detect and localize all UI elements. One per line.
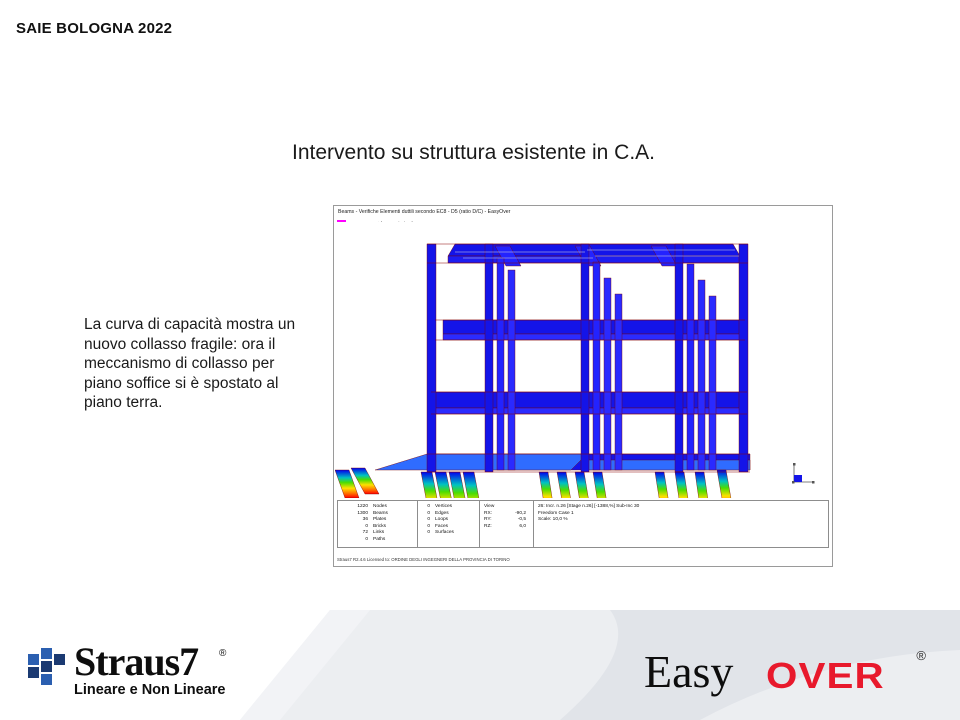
result-scale: Scale: 10,0 % bbox=[538, 517, 824, 524]
stats-count-value: 72 bbox=[342, 530, 368, 537]
fea-screenshot-panel: Beams - Verifiche Elementi duttili secon… bbox=[333, 205, 833, 567]
stats-count-value: 0 bbox=[342, 537, 368, 544]
model-viewport[interactable] bbox=[335, 222, 831, 498]
stats-view-value: 6,0 bbox=[500, 524, 526, 531]
stats-geometry-counts: 0Vertices0Edges0Loops0Faces0Surfaces bbox=[418, 501, 480, 547]
easyover-logo: Easy OVER ® bbox=[644, 646, 924, 706]
slide-header-title: SAIE BOLOGNA 2022 bbox=[16, 20, 172, 37]
stats-count-label: Links bbox=[373, 530, 384, 537]
stats-row: 0Loops bbox=[422, 517, 475, 524]
fea-result-title: Beams - Verifiche Elementi duttili secon… bbox=[338, 209, 510, 215]
stats-entity-value: 0 bbox=[422, 517, 430, 524]
stats-entity-value: 0 bbox=[422, 530, 430, 537]
stats-entity-label: Vertices bbox=[435, 504, 452, 511]
stats-count-label: Nodes bbox=[373, 504, 387, 511]
result-increment: 26: Incr. n.26 [Stage n.26] [-1388,%] Su… bbox=[538, 504, 824, 511]
stats-row: 72Links bbox=[342, 530, 413, 537]
stats-entity-value: 0 bbox=[422, 504, 430, 511]
straus7-grid-icon bbox=[28, 648, 68, 686]
result-freedom-case: Freedom Case 1 bbox=[538, 511, 824, 518]
straus7-logo: Straus7 ® Lineare e Non Lineare bbox=[28, 642, 228, 704]
stats-view-row: RY:-0,5 bbox=[484, 517, 529, 524]
body-paragraph: La curva di capacità mostra un nuovo col… bbox=[84, 315, 299, 413]
stats-view-title: View bbox=[484, 504, 529, 511]
page-title: Intervento su struttura esistente in C.A… bbox=[292, 141, 655, 165]
license-footer: Straus7 R2.4.6 Licensed to: ORDINE DEGLI… bbox=[337, 557, 510, 562]
stats-count-label: Paths bbox=[373, 537, 385, 544]
straus7-registered-mark: ® bbox=[219, 648, 226, 659]
straus7-wordmark: Straus7 bbox=[74, 640, 198, 684]
stats-count-label: Plates bbox=[373, 517, 386, 524]
stats-row: 36Plates bbox=[342, 517, 413, 524]
axis-triad-icon bbox=[788, 460, 818, 488]
straus7-tagline: Lineare e Non Lineare bbox=[74, 682, 226, 698]
stats-count-value: 36 bbox=[342, 517, 368, 524]
stats-result-case: 26: Incr. n.26 [Stage n.26] [-1388,%] Su… bbox=[534, 501, 828, 547]
stats-count-value: 1220 bbox=[342, 504, 368, 511]
stats-view-row: RZ:6,0 bbox=[484, 524, 529, 531]
stats-row: 0Vertices bbox=[422, 504, 475, 511]
stats-view-angles: ViewRX:-90,2RY:-0,5RZ:6,0 bbox=[480, 501, 534, 547]
stats-view-axis: RZ: bbox=[484, 524, 500, 531]
easyover-easy-text: Easy bbox=[644, 646, 733, 698]
easyover-registered-mark: ® bbox=[916, 648, 926, 663]
stats-entity-label: Surfaces bbox=[435, 530, 454, 537]
stats-row: 1220Nodes bbox=[342, 504, 413, 511]
model-statistics-bar: 1220Nodes1300Beams36Plates0Bricks72Links… bbox=[337, 500, 829, 548]
frame-structure-model bbox=[335, 222, 831, 498]
stats-row: 0Paths bbox=[342, 537, 413, 544]
stats-view-value: -0,5 bbox=[500, 517, 526, 524]
easyover-over-text: OVER bbox=[766, 656, 885, 696]
stats-entity-counts: 1220Nodes1300Beams36Plates0Bricks72Links… bbox=[338, 501, 418, 547]
stats-row: 0Surfaces bbox=[422, 530, 475, 537]
stats-entity-label: Loops bbox=[435, 517, 448, 524]
stats-view-axis: RY: bbox=[484, 517, 500, 524]
